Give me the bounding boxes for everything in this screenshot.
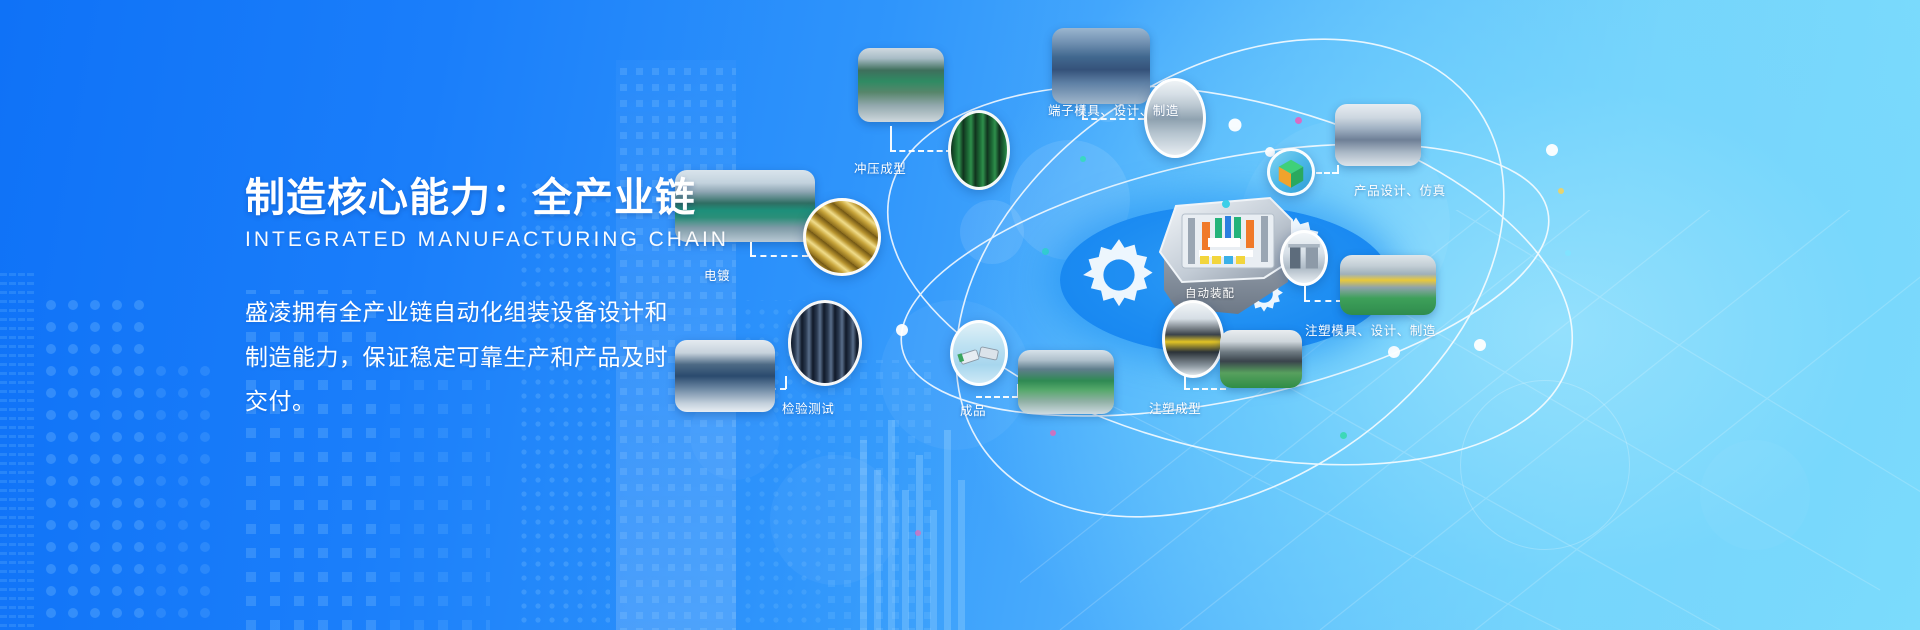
manufacturing-chain-diagram: 自动装配 电镀 冲压成型 端子模具、设计、制造: [780, 0, 1920, 630]
node-label-product-design: 产品设计、仿真: [1354, 180, 1446, 199]
injection-forming-photo: [1220, 330, 1302, 388]
page-title: 制造核心能力：全产业链: [245, 176, 715, 221]
press-photo: [858, 48, 944, 122]
injection-mold-circle-icon: [1280, 230, 1328, 286]
connector-dash: [890, 150, 952, 152]
page-body-text: 盛凌拥有全产业链自动化组装设备设计和制造能力，保证稳定可靠生产和产品及时交付。: [245, 290, 685, 425]
connector-dash: [750, 255, 808, 257]
node-label-inspection: 检验测试: [782, 398, 834, 417]
node-label-injection-forming: 注塑成型: [1149, 398, 1201, 417]
connector-dash: [1184, 388, 1226, 390]
finished-product-circle-icon: [950, 320, 1008, 386]
node-label-injection-mold: 注塑模具、设计、制造: [1305, 320, 1436, 339]
injection-mold-photo: [1340, 255, 1436, 315]
banner-background: 制造核心能力：全产业链 INTEGRATED MANUFACTURING CHA…: [0, 0, 1920, 630]
node-label-finished-product: 成品: [960, 400, 986, 419]
plating-circle-icon: [803, 198, 881, 276]
connector-dash: [1304, 286, 1306, 301]
connector-dash: [785, 376, 787, 389]
product-design-circle-icon: [1267, 148, 1315, 196]
banner-text-block: 制造核心能力：全产业链 INTEGRATED MANUFACTURING CHA…: [245, 176, 715, 424]
connector-dash: [976, 396, 1018, 398]
press-circle-icon: [948, 110, 1010, 190]
finished-product-photo: [1018, 350, 1114, 414]
product-design-photo: [1335, 104, 1421, 166]
node-label-terminal-mold: 端子模具、设计、制造: [1048, 100, 1179, 119]
connector-dash: [750, 242, 752, 256]
connector-dash: [1184, 376, 1186, 389]
connector-dash: [890, 126, 892, 151]
connector-dash: [1304, 300, 1342, 302]
hub-label: 自动装配: [1185, 285, 1235, 301]
page-subtitle: INTEGRATED MANUFACTURING CHAIN: [245, 228, 715, 252]
terminal-mold-photo: [1052, 28, 1150, 104]
injection-forming-circle-icon: [1162, 300, 1224, 378]
inspection-circle-icon: [788, 300, 862, 386]
node-label-press: 冲压成型: [854, 158, 906, 177]
connector-dash: [1337, 165, 1339, 174]
